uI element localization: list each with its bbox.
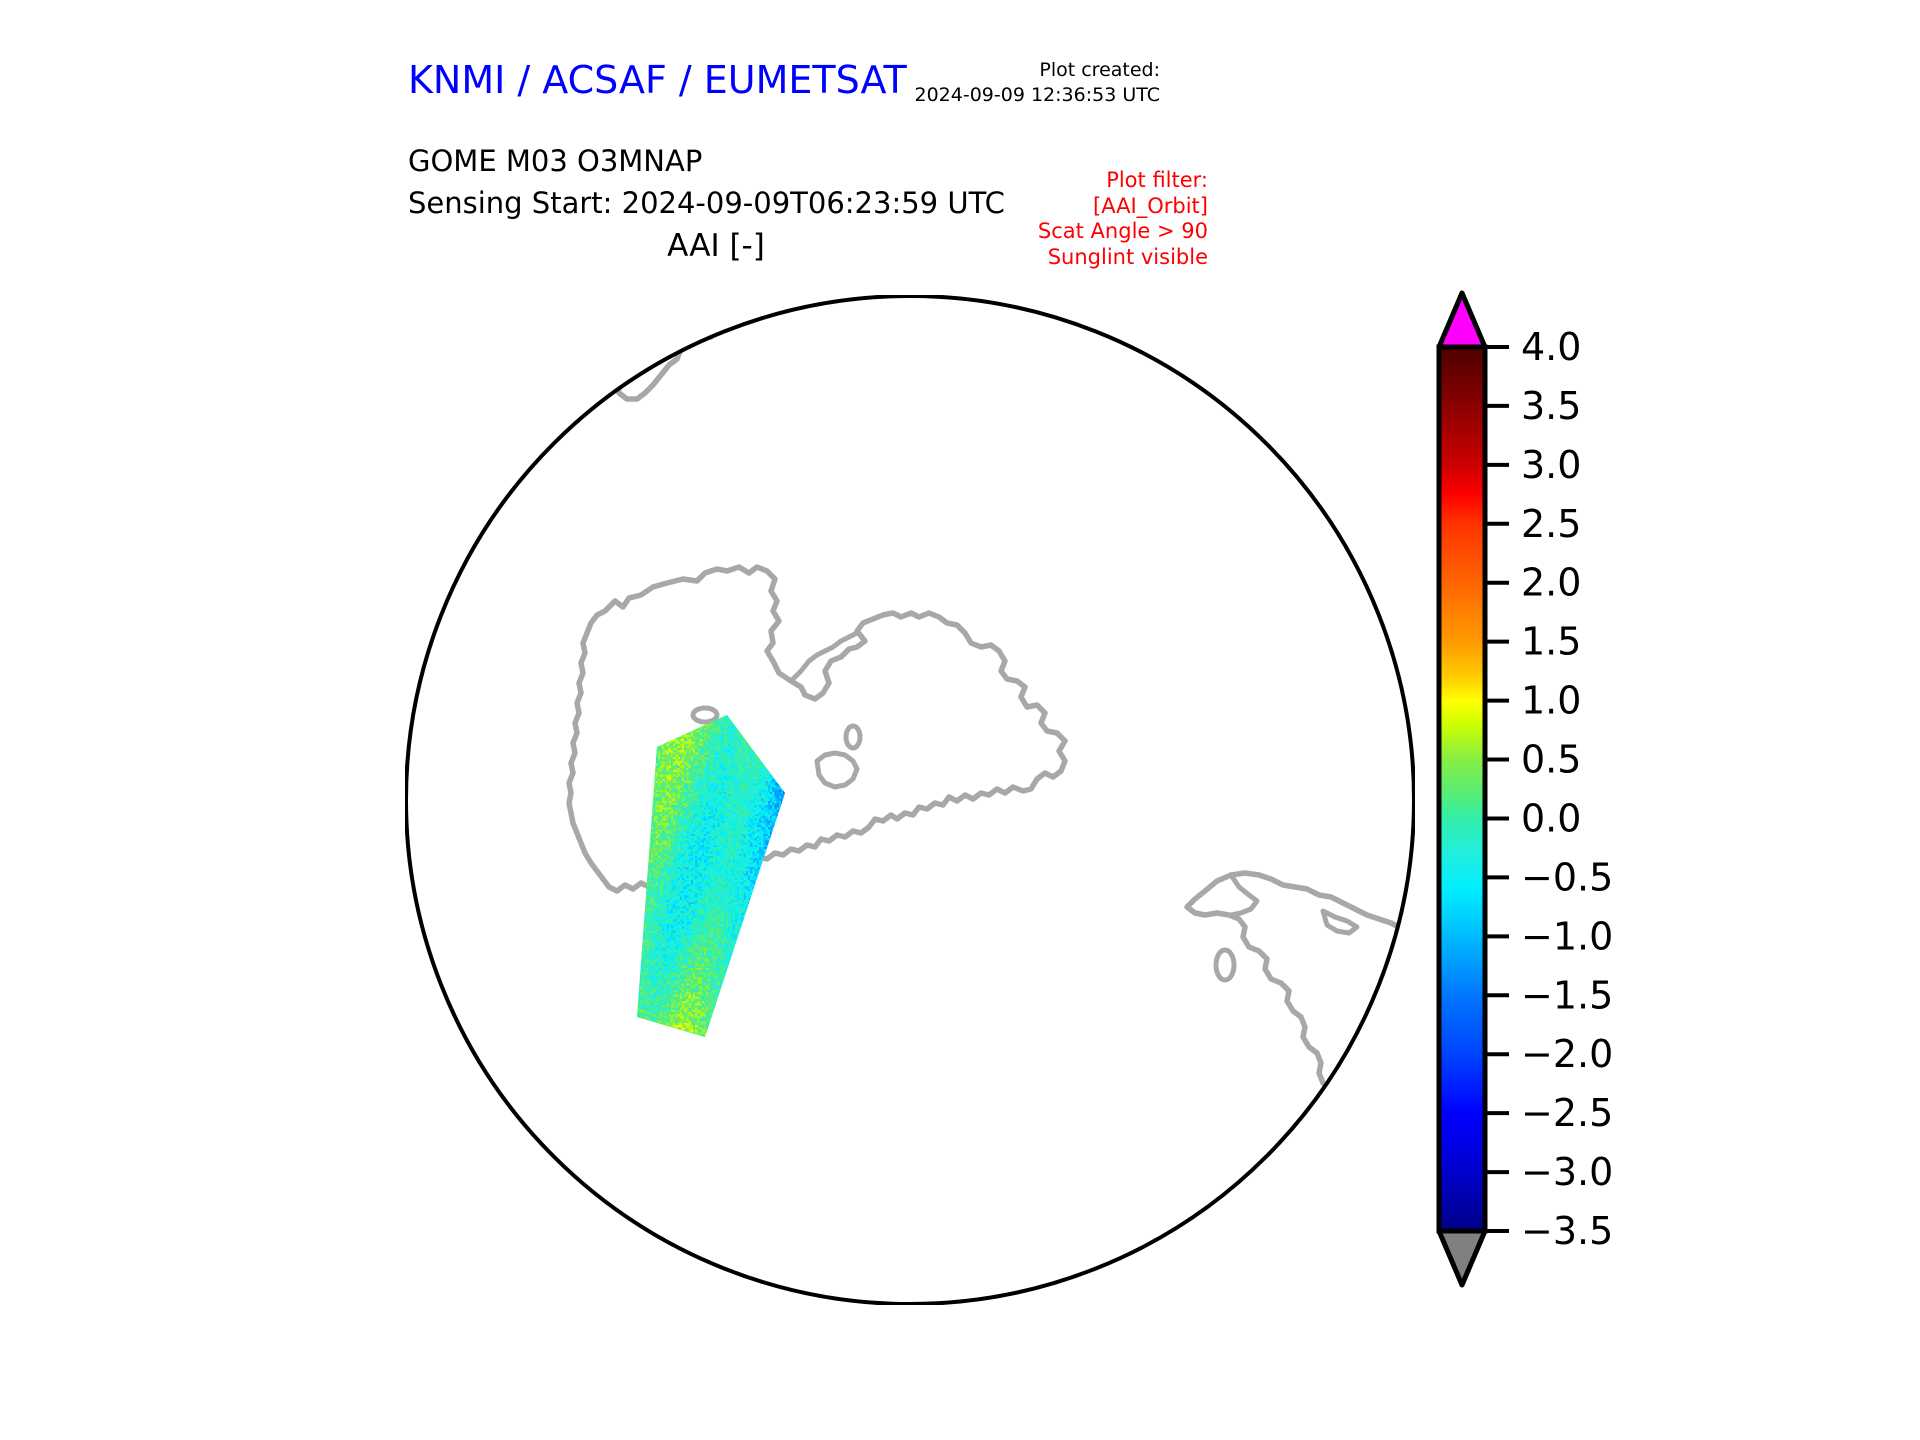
colorbar-tick-label: −3.0: [1521, 1150, 1613, 1194]
colorbar-tick-label: −2.5: [1521, 1091, 1613, 1135]
plot-filter-sunglint: Sunglint visible: [1038, 245, 1208, 271]
colorbar-tick-label: 1.0: [1521, 679, 1581, 723]
plot-filter-label: Plot filter:: [1038, 168, 1208, 194]
plot-filter-block: Plot filter: [AAI_Orbit] Scat Angle > 90…: [1038, 168, 1208, 270]
colorbar-tick-label: −2.0: [1521, 1032, 1613, 1076]
polar-stereographic-map: [405, 295, 1415, 1305]
institutes-title: KNMI / ACSAF / EUMETSAT: [408, 58, 907, 102]
plot-created-label: Plot created:: [915, 58, 1161, 83]
map-panel: [405, 295, 1415, 1305]
colorbar-over-range-arrow: [1439, 293, 1485, 347]
product-info-block: GOME M03 O3MNAP Sensing Start: 2024-09-0…: [408, 140, 1005, 224]
plot-created-timestamp: 2024-09-09 12:36:53 UTC: [915, 83, 1161, 108]
colorbar-tick-label: −3.5: [1521, 1209, 1613, 1253]
plot-filter-variable: [AAI_Orbit]: [1038, 194, 1208, 220]
colorbar-tick-label: 2.5: [1521, 502, 1581, 546]
page-title: AAI [-]: [0, 228, 1432, 264]
colorbar-tick-label: 3.0: [1521, 443, 1581, 487]
colorbar-tick-label: −1.5: [1521, 973, 1613, 1017]
plot-created-block: Plot created: 2024-09-09 12:36:53 UTC: [915, 58, 1161, 108]
product-name: GOME M03 O3MNAP: [408, 140, 1005, 182]
colorbar-gradient-bar: [1439, 347, 1485, 1231]
colorbar-tick-label: −0.5: [1521, 855, 1613, 899]
plot-filter-scat-angle: Scat Angle > 90: [1038, 219, 1208, 245]
colorbar-tick-label: 3.5: [1521, 384, 1581, 428]
map-disc-background: [406, 296, 1414, 1304]
colorbar-under-range-arrow: [1439, 1231, 1485, 1285]
colorbar-tick-labels: 4.03.53.02.52.01.51.00.50.0−0.5−1.0−1.5−…: [1521, 325, 1613, 1253]
colorbar-tick-label: −1.0: [1521, 914, 1613, 958]
colorbar-tick-label: 0.5: [1521, 738, 1581, 782]
sensing-start: Sensing Start: 2024-09-09T06:23:59 UTC: [408, 182, 1005, 224]
colorbar-tick-label: 1.5: [1521, 620, 1581, 664]
colorbar-panel: 4.03.53.02.52.01.51.00.50.0−0.5−1.0−1.5−…: [1425, 285, 1845, 1295]
colorbar-tick-label: 0.0: [1521, 796, 1581, 840]
colorbar-tick-label: 4.0: [1521, 325, 1581, 369]
colorbar: 4.03.53.02.52.01.51.00.50.0−0.5−1.0−1.5−…: [1425, 285, 1845, 1295]
colorbar-tick-label: 2.0: [1521, 561, 1581, 605]
plot-page: KNMI / ACSAF / EUMETSAT Plot created: 20…: [0, 0, 1920, 1440]
colorbar-ticks: [1485, 347, 1509, 1231]
